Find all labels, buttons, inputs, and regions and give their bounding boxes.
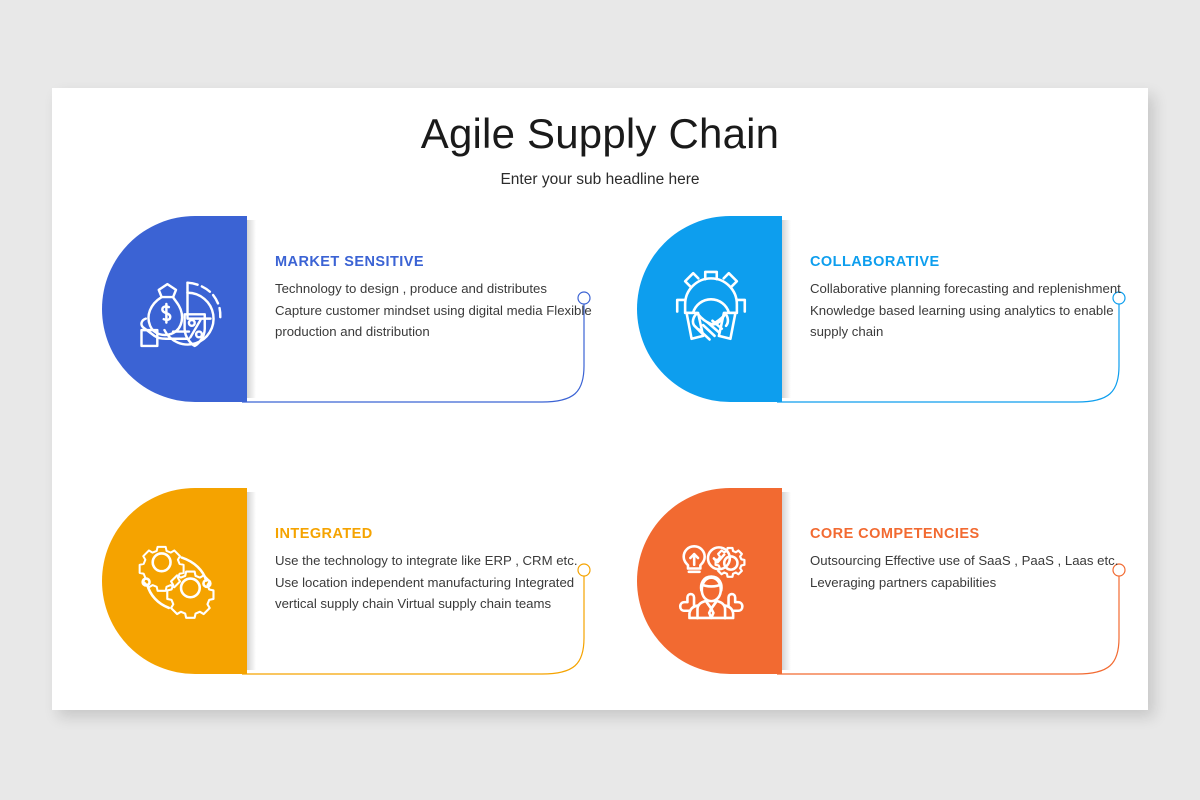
card-text-3: INTEGRATED Use the technology to integra… [275, 526, 597, 615]
card-body-4: Outsourcing Effective use of SaaS , PaaS… [810, 550, 1132, 593]
card-market-sensitive[interactable]: MARKET SENSITIVE Technology to design , … [102, 216, 602, 402]
card-heading-2: COLLABORATIVE [810, 254, 1132, 270]
card-shape-shadow-2 [782, 220, 791, 398]
card-heading-3: INTEGRATED [275, 526, 597, 542]
card-heading-4: CORE COMPETENCIES [810, 526, 1132, 542]
card-shape-shadow-1 [247, 220, 256, 398]
card-shape-shadow-4 [782, 492, 791, 670]
card-shape-shadow-3 [247, 492, 256, 670]
person-lightbulb-check-gear-icon [665, 536, 757, 628]
card-body-1: Technology to design , produce and distr… [275, 278, 597, 343]
money-bag-pie-chart-shield-icon [130, 264, 222, 356]
card-icon-panel-3 [102, 488, 247, 674]
card-body-3: Use the technology to integrate like ERP… [275, 550, 597, 615]
card-integrated[interactable]: INTEGRATED Use the technology to integra… [102, 488, 602, 674]
card-text-2: COLLABORATIVE Collaborative planning for… [810, 254, 1132, 343]
two-gears-icon [130, 536, 222, 628]
card-icon-panel-1 [102, 216, 247, 402]
card-icon-panel-4 [637, 488, 782, 674]
slide-header: Agile Supply Chain Enter your sub headli… [52, 88, 1148, 189]
card-body-2: Collaborative planning forecasting and r… [810, 278, 1132, 343]
card-icon-panel-2 [637, 216, 782, 402]
slide-canvas: Agile Supply Chain Enter your sub headli… [52, 88, 1148, 710]
handshake-gear-icon [665, 264, 757, 356]
card-collaborative[interactable]: COLLABORATIVE Collaborative planning for… [637, 216, 1137, 402]
card-core-competencies[interactable]: CORE COMPETENCIES Outsourcing Effective … [637, 488, 1137, 674]
page-title: Agile Supply Chain [52, 110, 1148, 158]
card-heading-1: MARKET SENSITIVE [275, 254, 597, 270]
page-subtitle: Enter your sub headline here [52, 171, 1148, 189]
card-text-1: MARKET SENSITIVE Technology to design , … [275, 254, 597, 343]
card-text-4: CORE COMPETENCIES Outsourcing Effective … [810, 526, 1132, 593]
